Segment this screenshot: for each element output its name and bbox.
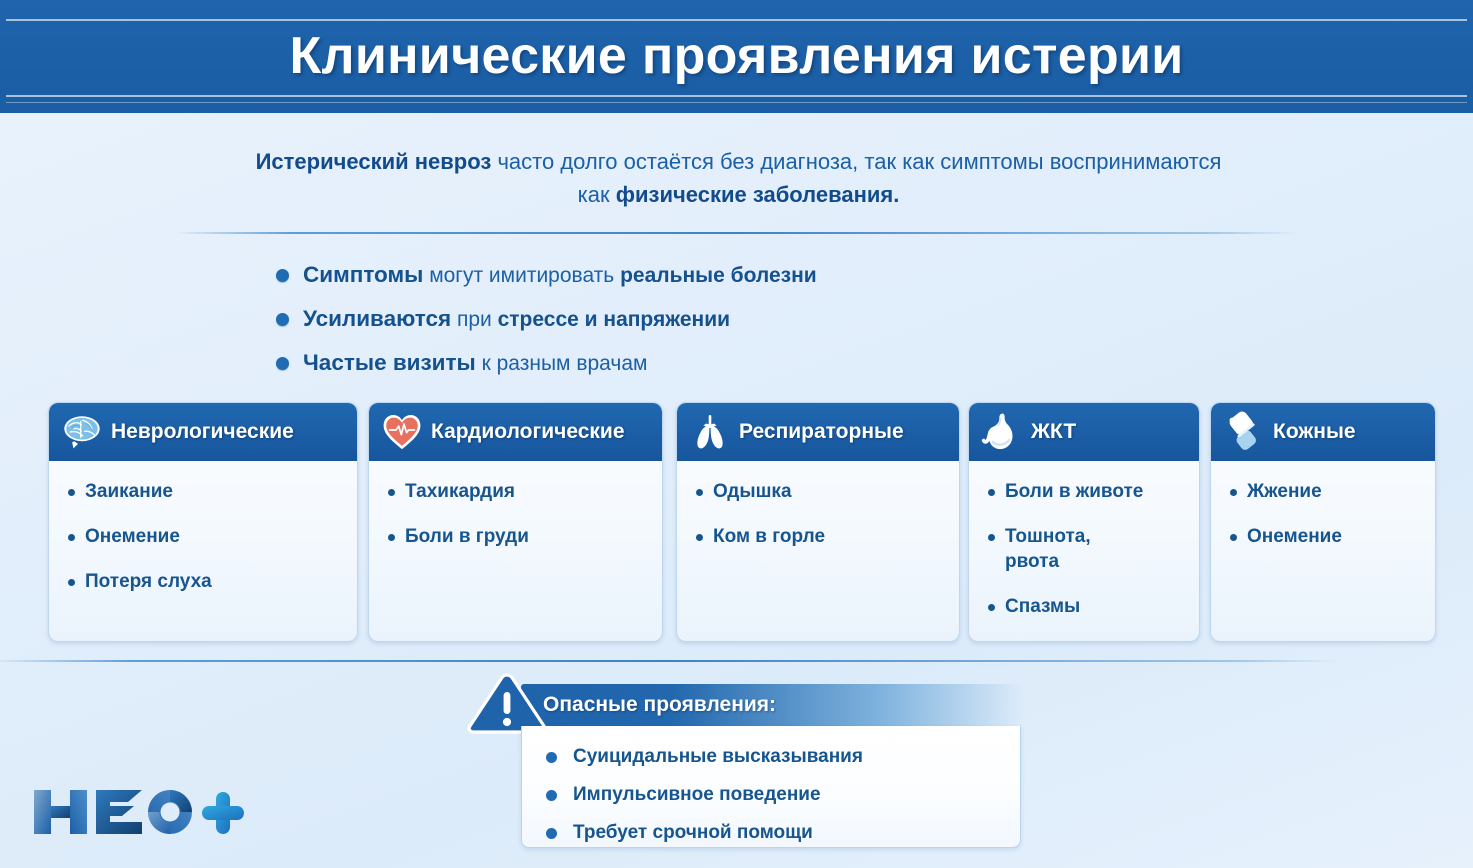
divider-top [180, 232, 1297, 234]
feature-item: Усиливаются при стрессе и напряжении [276, 297, 1176, 341]
feature-tail: к разным врачам [482, 352, 648, 375]
symptom-card-neurological[interactable]: Неврологические Заикание Онемение Потеря… [48, 402, 358, 642]
feature-text: Усиливаются при стрессе и напряжении [303, 306, 730, 332]
card-title: Кардиологические [431, 420, 625, 444]
card-item-label: Одышка [713, 479, 792, 504]
feature-text: Симптомы могут имитировать реальные боле… [303, 262, 817, 288]
feature-mid: могут имитировать [423, 264, 620, 287]
bullet-dot-icon [696, 489, 703, 496]
card-item-label: Спазмы [1005, 594, 1080, 619]
danger-item-label: Суицидальные высказывания [573, 746, 863, 768]
card-header: ЖКТ [969, 403, 1199, 461]
bullet-dot-icon [68, 489, 75, 496]
bullet-dot-icon [988, 489, 995, 496]
danger-header-bar: Опасные проявления: [521, 684, 1025, 726]
feature-lead: Частые визиты [303, 350, 476, 375]
card-body: Жжение Онемение [1211, 461, 1435, 549]
header-rule-bottom-thin [6, 102, 1467, 103]
card-item-label: Заикание [85, 479, 173, 504]
list-item: Боли в животе [985, 479, 1187, 504]
list-item: Заикание [65, 479, 345, 504]
header-rule-bottom [6, 95, 1467, 97]
symptom-card-grid: Неврологические Заикание Онемение Потеря… [48, 402, 1436, 642]
card-header: Респираторные [677, 403, 959, 461]
brain-icon [61, 411, 103, 453]
list-item: Ком в горле [693, 524, 947, 549]
card-item-label: Онемение [1247, 524, 1342, 549]
card-item-label: Тошнота, рвота [1005, 524, 1091, 574]
bullet-dot-icon [388, 489, 395, 496]
list-item: Одышка [693, 479, 947, 504]
stomach-icon [981, 411, 1023, 453]
danger-signs-box: Опасные проявления: Суицидальные высказы… [465, 672, 1025, 868]
card-item-label: Онемение [85, 524, 180, 549]
card-title: Респираторные [739, 420, 904, 444]
warning-triangle-icon [465, 672, 549, 734]
bullet-dot-icon [388, 534, 395, 541]
card-header: Кожные [1211, 403, 1435, 461]
card-header: Неврологические [49, 403, 357, 461]
intro-bold-lead: Истерический невроз [256, 149, 492, 174]
danger-list: Суицидальные высказывания Импульсивное п… [521, 726, 1021, 848]
heart-ecg-icon [381, 411, 423, 453]
card-item-label: Тахикардия [405, 479, 515, 504]
list-item: Требует срочной помощи [546, 814, 1020, 852]
card-title: Кожные [1273, 420, 1356, 444]
feature-list: Симптомы могут имитировать реальные боле… [276, 253, 1176, 385]
card-title: ЖКТ [1031, 420, 1076, 444]
card-item-label: Потеря слуха [85, 569, 212, 594]
bullet-dot-icon [546, 828, 557, 839]
feature-mid: при [451, 308, 497, 331]
card-item-label: Жжение [1247, 479, 1322, 504]
list-item: Боли в груди [385, 524, 650, 549]
feature-bold-tail: стрессе и напряжении [498, 308, 730, 331]
bullet-dot-icon [276, 269, 289, 282]
neo-plus-logo [30, 786, 245, 838]
list-item: Спазмы [985, 594, 1187, 619]
intro-bold-tail: физические заболевания. [616, 182, 900, 207]
symptom-card-gastrointestinal[interactable]: ЖКТ Боли в животе Тошнота, рвота Спазмы [968, 402, 1200, 642]
bullet-dot-icon [546, 752, 557, 763]
danger-item-label: Импульсивное поведение [573, 784, 821, 806]
list-item: Онемение [1227, 524, 1423, 549]
card-body: Тахикардия Боли в груди [369, 461, 662, 549]
bullet-dot-icon [546, 790, 557, 801]
list-item: Суицидальные высказывания [546, 738, 1020, 776]
list-item: Жжение [1227, 479, 1423, 504]
feature-lead: Усиливаются [303, 306, 451, 331]
bullet-dot-icon [988, 534, 995, 541]
intro-paragraph: Истерический невроз часто долго остаётся… [180, 145, 1297, 211]
feature-bold-tail: реальные болезни [620, 264, 817, 287]
card-item-label: Боли в груди [405, 524, 529, 549]
feature-item: Частые визиты к разным врачам [276, 341, 1176, 385]
bullet-dot-icon [276, 313, 289, 326]
page-header: Клинические проявления истерии [0, 0, 1473, 113]
danger-title: Опасные проявления: [543, 693, 776, 717]
list-item: Онемение [65, 524, 345, 549]
symptom-card-respiratory[interactable]: Респираторные Одышка Ком в горле [676, 402, 960, 642]
card-title: Неврологические [111, 420, 294, 444]
bullet-dot-icon [696, 534, 703, 541]
feature-text: Частые визиты к разным врачам [303, 350, 647, 376]
symptom-card-cardiological[interactable]: Кардиологические Тахикардия Боли в груди [368, 402, 663, 642]
bullet-dot-icon [68, 579, 75, 586]
page-title: Клинические проявления истерии [0, 20, 1473, 92]
skin-patch-icon [1223, 411, 1265, 453]
bullet-dot-icon [1230, 534, 1237, 541]
list-item: Тошнота, рвота [985, 524, 1187, 574]
divider-bottom [0, 660, 1338, 662]
intro-line1-rest: часто долго остаётся без диагноза, так к… [491, 149, 1221, 174]
danger-item-label: Требует срочной помощи [573, 822, 813, 844]
feature-lead: Симптомы [303, 262, 423, 287]
symptom-card-skin[interactable]: Кожные Жжение Онемение [1210, 402, 1436, 642]
card-item-label: Боли в животе [1005, 479, 1143, 504]
bullet-dot-icon [988, 604, 995, 611]
list-item: Импульсивное поведение [546, 776, 1020, 814]
bullet-dot-icon [68, 534, 75, 541]
card-body: Одышка Ком в горле [677, 461, 959, 549]
lungs-icon [689, 411, 731, 453]
intro-line2-rest: как [578, 182, 616, 207]
card-header: Кардиологические [369, 403, 662, 461]
card-item-label: Ком в горле [713, 524, 825, 549]
card-body: Заикание Онемение Потеря слуха [49, 461, 357, 594]
bullet-dot-icon [1230, 489, 1237, 496]
list-item: Потеря слуха [65, 569, 345, 594]
bullet-dot-icon [276, 357, 289, 370]
list-item: Тахикардия [385, 479, 650, 504]
card-body: Боли в животе Тошнота, рвота Спазмы [969, 461, 1199, 619]
feature-item: Симптомы могут имитировать реальные боле… [276, 253, 1176, 297]
